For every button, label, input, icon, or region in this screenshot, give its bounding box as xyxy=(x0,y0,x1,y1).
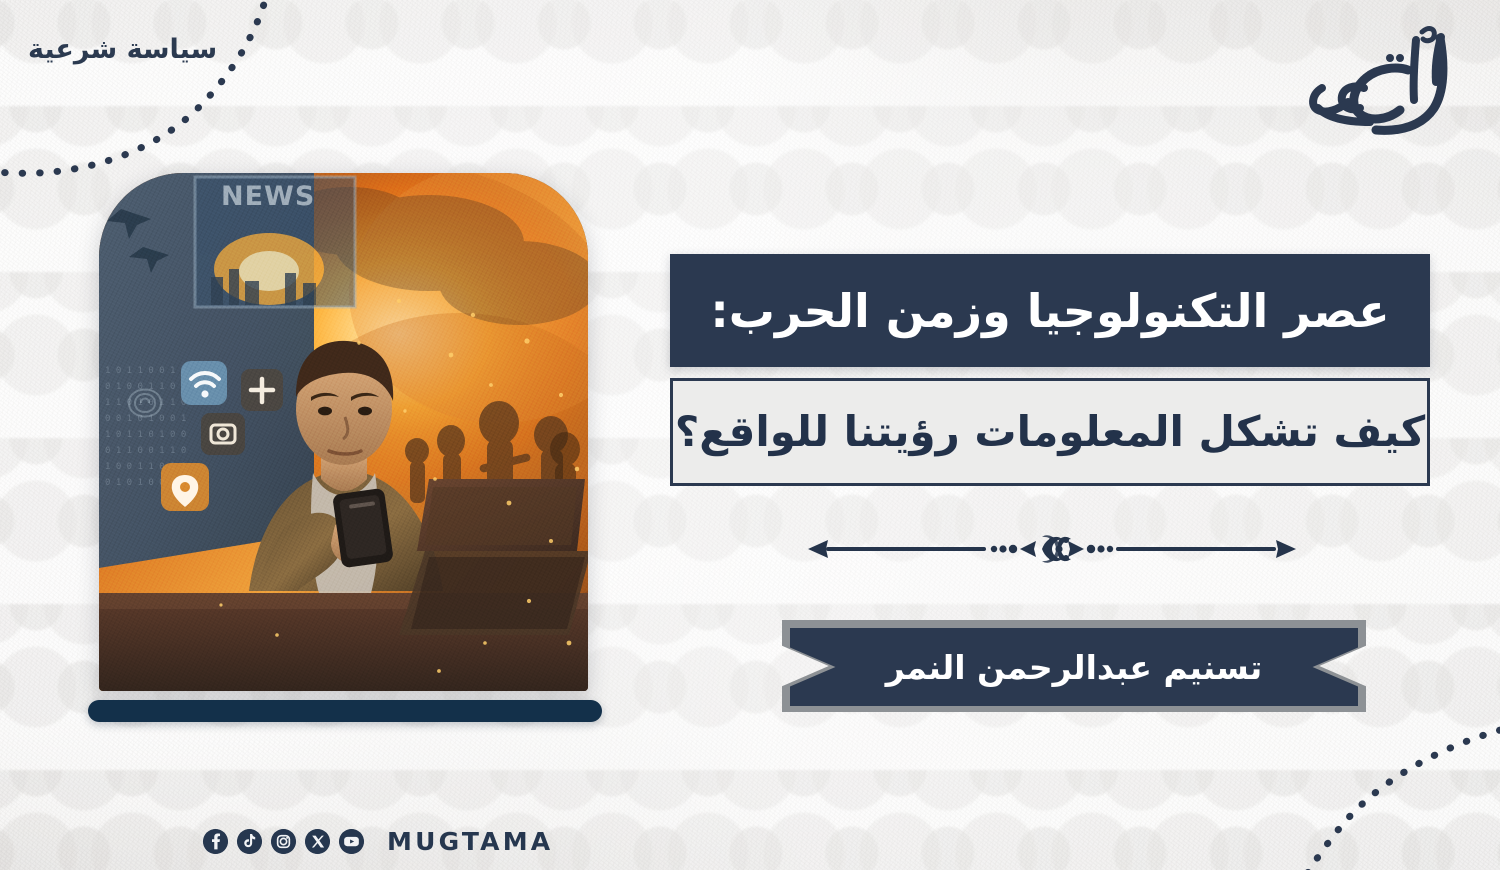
ornamental-divider xyxy=(806,528,1298,570)
poster-canvas: سياسة شرعية xyxy=(0,0,1500,870)
category-label: سياسة شرعية xyxy=(28,34,217,65)
title-line-2-box: كيف تشكل المعلومات رؤيتنا للواقع؟ xyxy=(670,378,1430,486)
hero-texture-overlay xyxy=(99,173,588,691)
hero-image: NEWS xyxy=(99,173,588,691)
x-twitter-icon[interactable] xyxy=(305,829,330,854)
author-name: تسنيم عبدالرحمن النمر xyxy=(886,648,1263,687)
title-line-2: كيف تشكل المعلومات رؤيتنا للواقع؟ xyxy=(675,411,1425,453)
mugtama-logo[interactable] xyxy=(1304,22,1454,140)
youtube-icon[interactable] xyxy=(339,829,364,854)
author-banner: تسنيم عبدالرحمن النمر xyxy=(782,620,1366,712)
author-banner-face: تسنيم عبدالرحمن النمر xyxy=(790,628,1358,706)
title-line-1: عصر التكنولوجيا وزمن الحرب: xyxy=(710,288,1389,334)
brand-wordmark: MUGTAMA xyxy=(387,827,553,856)
footer-bar: MUGTAMA xyxy=(203,827,553,856)
facebook-icon[interactable] xyxy=(203,829,228,854)
tiktok-icon[interactable] xyxy=(237,829,262,854)
hero-image-frame: NEWS xyxy=(99,173,588,691)
hero-base-bar xyxy=(88,700,602,722)
instagram-icon[interactable] xyxy=(271,829,296,854)
title-line-1-box: عصر التكنولوجيا وزمن الحرب: xyxy=(670,254,1430,367)
